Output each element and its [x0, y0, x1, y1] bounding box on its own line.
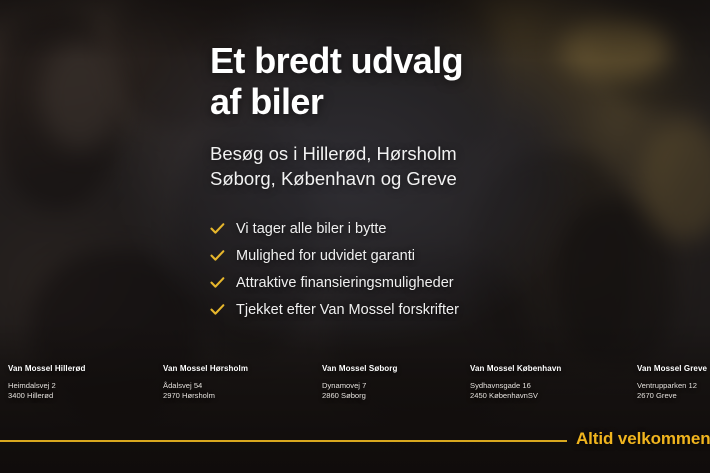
dealer-name: Van Mossel Hørsholm [163, 364, 313, 374]
dealer-name: Van Mossel Hillerød [8, 364, 158, 374]
dealer-address: Sydhavnsgade 16 2450 KøbenhavnSV [470, 381, 620, 400]
dealer-address: Heimdalsvej 2 3400 Hillerød [8, 381, 158, 400]
dealer-city: 2970 Hørsholm [163, 391, 313, 401]
list-item: Vi tager alle biler i bytte [210, 215, 680, 242]
dealer-city: 2450 KøbenhavnSV [470, 391, 620, 401]
list-item-label: Vi tager alle biler i bytte [236, 220, 386, 238]
footer-divider [0, 440, 567, 442]
check-icon [210, 250, 236, 262]
list-item: Attraktive finansieringsmuligheder [210, 269, 680, 296]
check-icon [210, 223, 236, 235]
list-item-label: Attraktive finansieringsmuligheder [236, 274, 454, 292]
list-item-label: Tjekket efter Van Mossel forskrifter [236, 301, 459, 319]
dealer-street: Heimdalsvej 2 [8, 381, 158, 391]
dealer-street: Dynamovej 7 [322, 381, 472, 391]
subheading-line-1: Besøg os i Hillerød, Hørsholm [210, 141, 680, 166]
dealer-name: Van Mossel Søborg [322, 364, 472, 374]
headline-line-2: af biler [210, 81, 690, 122]
dealer-column: Van Mossel Hørsholm Ådalsvej 54 2970 Hør… [163, 364, 313, 400]
footer-slogan: Altid velkommen [576, 428, 710, 450]
dealer-column: Van Mossel Hillerød Heimdalsvej 2 3400 H… [8, 364, 158, 400]
dealer-street: Sydhavnsgade 16 [470, 381, 620, 391]
subheading: Besøg os i Hillerød, Hørsholm Søborg, Kø… [210, 141, 680, 191]
dealer-city: 2670 Greve [637, 391, 710, 401]
dealer-street: Ventrupparken 12 [637, 381, 710, 391]
subheading-line-2: Søborg, København og Greve [210, 166, 680, 191]
check-icon [210, 277, 236, 289]
dealer-address: Ventrupparken 12 2670 Greve [637, 381, 710, 400]
list-item-label: Mulighed for udvidet garanti [236, 247, 415, 265]
list-item: Tjekket efter Van Mossel forskrifter [210, 296, 680, 323]
dealer-address: Dynamovej 7 2860 Søborg [322, 381, 472, 400]
feature-list: Vi tager alle biler i bytte Mulighed for… [210, 215, 680, 323]
dealer-column: Van Mossel Greve Ventrupparken 12 2670 G… [637, 364, 710, 400]
dealer-street: Ådalsvej 54 [163, 381, 313, 391]
dealer-column: Van Mossel Søborg Dynamovej 7 2860 Søbor… [322, 364, 472, 400]
dealer-city: 3400 Hillerød [8, 391, 158, 401]
headline-line-1: Et bredt udvalg [210, 40, 690, 81]
banner-content: Et bredt udvalg af biler Besøg os i Hill… [0, 0, 710, 473]
dealer-column: Van Mossel København Sydhavnsgade 16 245… [470, 364, 620, 400]
banner-root: Et bredt udvalg af biler Besøg os i Hill… [0, 0, 710, 473]
page-title: Et bredt udvalg af biler [210, 40, 690, 122]
dealer-name: Van Mossel København [470, 364, 620, 374]
dealer-city: 2860 Søborg [322, 391, 472, 401]
dealer-locations: Van Mossel Hillerød Heimdalsvej 2 3400 H… [0, 364, 710, 412]
dealer-name: Van Mossel Greve [637, 364, 710, 374]
dealer-address: Ådalsvej 54 2970 Hørsholm [163, 381, 313, 400]
list-item: Mulighed for udvidet garanti [210, 242, 680, 269]
check-icon [210, 304, 236, 316]
